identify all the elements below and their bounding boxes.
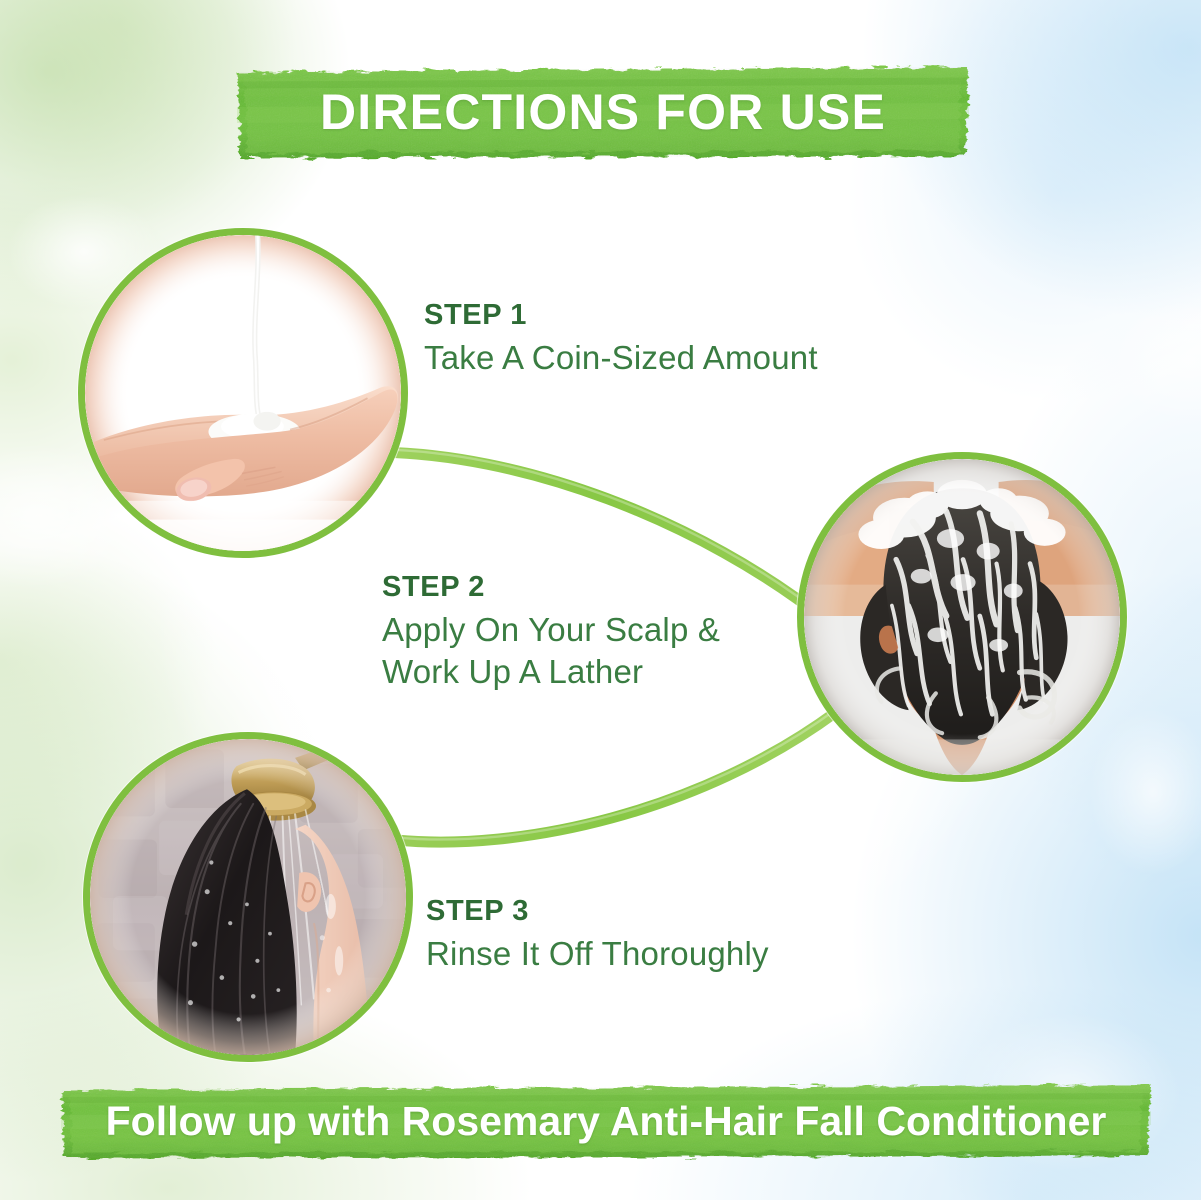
step-2-text-block: STEP 2 Apply On Your Scalp & Work Up A L… — [382, 572, 720, 692]
lathering-hair-illustration — [804, 459, 1120, 775]
step-2-heading: STEP 2 — [382, 572, 720, 603]
footer-cta-banner: Follow up with Rosemary Anti-Hair Fall C… — [58, 1082, 1154, 1160]
step-3-image-circle — [83, 732, 413, 1062]
step-3-photo — [90, 739, 406, 1055]
page-title: DIRECTIONS FOR USE — [235, 87, 971, 137]
footer-cta-text: Follow up with Rosemary Anti-Hair Fall C… — [58, 1101, 1154, 1142]
step-1-heading: STEP 1 — [424, 300, 818, 331]
step-3-heading: STEP 3 — [426, 896, 769, 927]
step-3-text-block: STEP 3 Rinse It Off Thoroughly — [426, 896, 769, 975]
step-1-image-circle — [78, 228, 408, 558]
step-1-photo — [85, 235, 401, 551]
step-1-text-block: STEP 1 Take A Coin-Sized Amount — [424, 300, 818, 379]
infographic-canvas: DIRECTIONS FOR USE — [0, 0, 1201, 1200]
step-3-description: Rinse It Off Thoroughly — [426, 933, 769, 975]
step-2-photo — [804, 459, 1120, 775]
connector-step2-step3 — [396, 712, 836, 842]
rinsing-hair-shower-illustration — [90, 739, 406, 1055]
title-banner: DIRECTIONS FOR USE — [235, 63, 971, 161]
step-1-description: Take A Coin-Sized Amount — [424, 337, 818, 379]
step-2-description: Apply On Your Scalp & Work Up A Lather — [382, 609, 720, 692]
hand-with-shampoo-illustration — [85, 235, 401, 551]
step-2-image-circle — [797, 452, 1127, 782]
